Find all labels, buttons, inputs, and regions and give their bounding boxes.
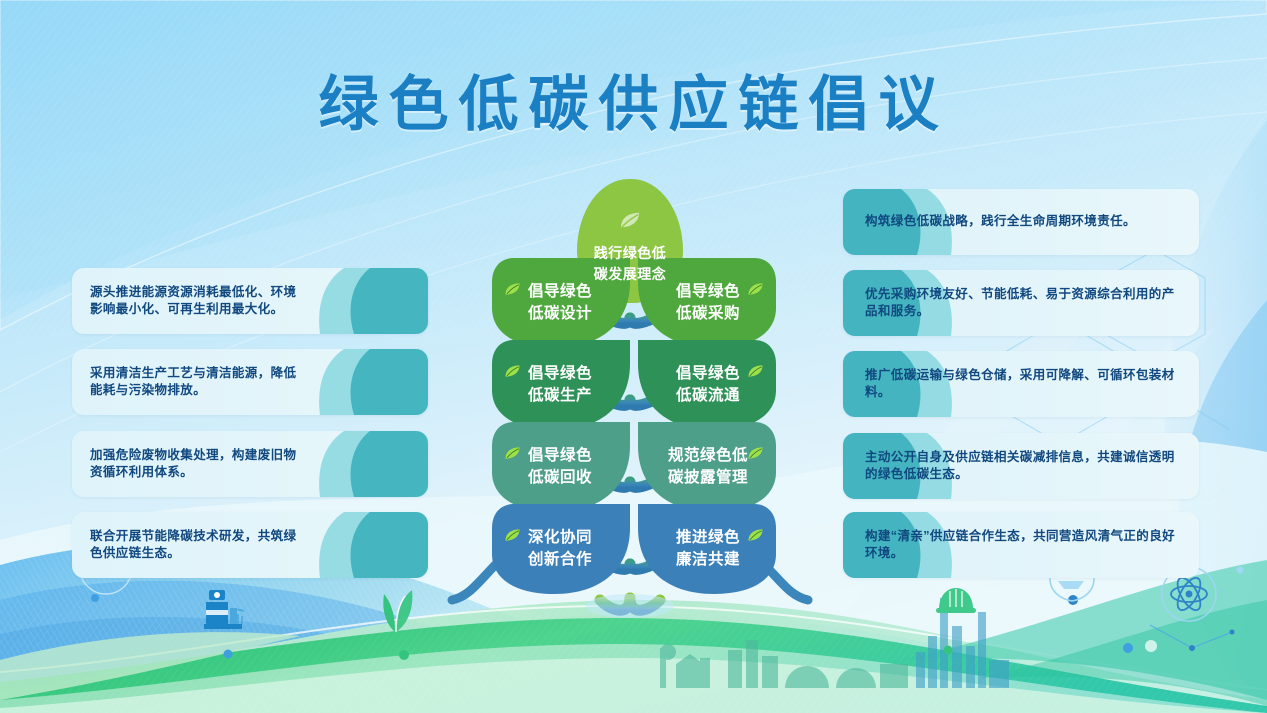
- panel-text: 加强危险废物收集处理，构建废旧物资循环利用体系。: [72, 447, 428, 482]
- right-panel-3[interactable]: 推广低碳运输与绿色仓储，采用可降解、可循环包装材料。: [843, 351, 1199, 417]
- crown-line-1: 践行绿色低: [594, 245, 667, 261]
- node-line-2: 低碳采购: [676, 303, 740, 325]
- node-line-2: 低碳回收: [528, 467, 592, 489]
- leaf-icon: [619, 211, 641, 229]
- leaf-icon: [504, 282, 521, 296]
- left-panel-3[interactable]: 加强危险废物收集处理，构建废旧物资循环利用体系。: [72, 431, 428, 497]
- node-line-2: 碳披露管理: [668, 467, 748, 489]
- panel-text: 构筑绿色低碳战略，践行全生命周期环境责任。: [843, 213, 1156, 231]
- poster-canvas: 绿色低碳供应链倡议: [0, 0, 1267, 713]
- node-line-1: 倡导绿色: [528, 363, 592, 385]
- leaf-icon: [504, 364, 521, 378]
- node-line-1: 倡导绿色: [676, 281, 740, 303]
- tree-node-right-3[interactable]: 规范绿色低 碳披露管理: [638, 420, 778, 514]
- node-text: 倡导绿色 低碳设计: [528, 281, 592, 326]
- right-panel-1[interactable]: 构筑绿色低碳战略，践行全生命周期环境责任。: [843, 189, 1199, 255]
- panel-text: 构建“清亲”供应链合作生态，共同营造风清气正的良好环境。: [843, 528, 1199, 563]
- tree-node-left-4[interactable]: 深化协同 创新合作: [490, 502, 630, 596]
- panel-text: 推广低碳运输与绿色仓储，采用可降解、可循环包装材料。: [843, 367, 1199, 402]
- node-line-1: 深化协同: [528, 527, 592, 549]
- node-line-1: 倡导绿色: [528, 445, 592, 467]
- leaf-icon: [747, 446, 764, 460]
- leaf-icon: [747, 528, 764, 542]
- node-text: 倡导绿色 低碳生产: [528, 363, 592, 408]
- tree-node-right-2[interactable]: 倡导绿色 低碳流通: [638, 338, 778, 432]
- left-panel-4[interactable]: 联合开展节能降碳技术研发，共筑绿色供应链生态。: [72, 512, 428, 578]
- panel-text: 采用清洁生产工艺与清洁能源，降低能耗与污染物排放。: [72, 365, 428, 400]
- panel-text: 主动公开自身及供应链相关碳减排信息，共建诚信透明的绿色低碳生态。: [843, 449, 1199, 484]
- node-line-1: 倡导绿色: [528, 281, 592, 303]
- leaf-icon: [504, 528, 521, 542]
- node-text: 倡导绿色 低碳采购: [676, 281, 740, 326]
- left-panel-1[interactable]: 源头推进能源资源消耗最低化、环境影响最小化、可再生利用最大化。: [72, 268, 428, 334]
- node-line-2: 低碳生产: [528, 385, 592, 407]
- right-panel-4[interactable]: 主动公开自身及供应链相关碳减排信息，共建诚信透明的绿色低碳生态。: [843, 433, 1199, 499]
- left-panel-2[interactable]: 采用清洁生产工艺与清洁能源，降低能耗与污染物排放。: [72, 349, 428, 415]
- crown-line-2: 碳发展理念: [594, 266, 667, 282]
- node-text: 倡导绿色 低碳回收: [528, 445, 592, 490]
- node-line-1: 规范绿色低: [668, 445, 748, 467]
- crown-text: 践行绿色低 碳发展理念: [594, 243, 667, 303]
- tree-node-left-2[interactable]: 倡导绿色 低碳生产: [490, 338, 630, 432]
- leaf-icon: [747, 364, 764, 378]
- leaf-icon: [504, 446, 521, 460]
- panel-text: 优先采购环境友好、节能低耗、易于资源综合利用的产品和服务。: [843, 286, 1199, 321]
- node-text: 倡导绿色 低碳流通: [676, 363, 740, 408]
- node-line-2: 创新合作: [528, 549, 592, 571]
- node-line-2: 低碳流通: [676, 385, 740, 407]
- node-text: 规范绿色低 碳披露管理: [668, 445, 748, 490]
- leaf-icon: [747, 282, 764, 296]
- node-line-2: 低碳设计: [528, 303, 592, 325]
- node-line-2: 廉洁共建: [676, 549, 740, 571]
- node-text: 深化协同 创新合作: [528, 527, 592, 572]
- right-panel-2[interactable]: 优先采购环境友好、节能低耗、易于资源综合利用的产品和服务。: [843, 270, 1199, 336]
- panel-text: 源头推进能源资源消耗最低化、环境影响最小化、可再生利用最大化。: [72, 284, 428, 319]
- panel-text: 联合开展节能降碳技术研发，共筑绿色供应链生态。: [72, 528, 428, 563]
- node-line-1: 倡导绿色: [676, 363, 740, 385]
- node-line-1: 推进绿色: [676, 527, 740, 549]
- tree-node-left-3[interactable]: 倡导绿色 低碳回收: [490, 420, 630, 514]
- right-panel-5[interactable]: 构建“清亲”供应链合作生态，共同营造风清气正的良好环境。: [843, 512, 1199, 578]
- node-text: 推进绿色 廉洁共建: [676, 527, 740, 572]
- tree-node-right-4[interactable]: 推进绿色 廉洁共建: [638, 502, 778, 596]
